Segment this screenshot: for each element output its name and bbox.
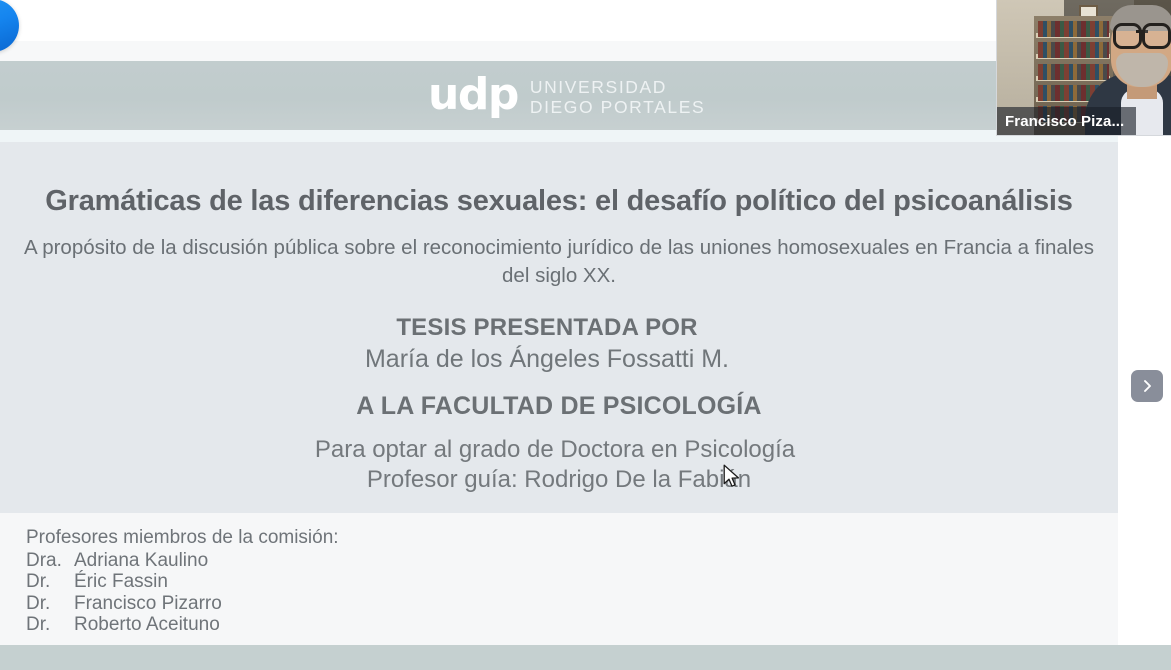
committee-list: Dra.Adriana KaulinoDr.Éric FassinDr.Fran… [26, 550, 339, 636]
udp-logo-line1: UNIVERSIDAD [530, 77, 705, 97]
slide-header-band: udp UNIVERSIDAD DIEGO PORTALES [0, 61, 1118, 130]
header-underband [0, 130, 1118, 142]
committee-member-row: Dra.Adriana Kaulino [26, 550, 339, 572]
participant-name-badge: Francisco Piza... [997, 107, 1136, 135]
glasses-icon [1113, 23, 1171, 43]
committee-member-row: Dr.Roberto Aceituno [26, 614, 339, 636]
chevron-right-icon [1139, 378, 1155, 394]
faculty-label: A LA FACULTAD DE PSICOLOGÍA [0, 392, 1118, 421]
presented-by-label: TESIS PRESENTADA POR [0, 314, 1094, 342]
committee-member-title: Dr. [26, 571, 74, 593]
participant-name-label: Francisco Piza... [1005, 113, 1124, 130]
committee-member-name: Roberto Aceituno [74, 614, 220, 636]
udp-logo-line2: DIEGO PORTALES [530, 97, 705, 117]
committee-block: Profesores miembros de la comisión: Dra.… [26, 527, 339, 636]
udp-logo-text: UNIVERSIDAD DIEGO PORTALES [530, 74, 705, 117]
slide-title: Gramáticas de las diferencias sexuales: … [0, 185, 1118, 218]
committee-member-row: Dr.Francisco Pizarro [26, 593, 339, 615]
udp-logo: udp UNIVERSIDAD DIEGO PORTALES [428, 72, 705, 118]
committee-member-name: Adriana Kaulino [74, 550, 208, 572]
committee-heading: Profesores miembros de la comisión: [26, 527, 339, 549]
degree-line: Para optar al grado de Doctora en Psicol… [0, 436, 1110, 464]
bottom-bar [0, 645, 1171, 670]
committee-member-name: Éric Fassin [74, 571, 168, 593]
committee-member-title: Dr. [26, 593, 74, 615]
committee-member-row: Dr.Éric Fassin [26, 571, 339, 593]
author-name: María de los Ángeles Fossatti M. [0, 345, 1094, 374]
committee-member-title: Dr. [26, 614, 74, 636]
next-panel-button[interactable] [1131, 370, 1163, 402]
committee-member-title: Dra. [26, 550, 74, 572]
participant-video-tile[interactable]: Francisco Piza... [996, 0, 1171, 136]
slide-subtitle: A propósito de la discusión pública sobr… [18, 234, 1100, 290]
committee-member-name: Francisco Pizarro [74, 593, 222, 615]
screen-share-view: udp UNIVERSIDAD DIEGO PORTALES Gramática… [0, 0, 1171, 670]
udp-logo-mark: udp [428, 72, 518, 118]
advisor-line: Profesor guía: Rodrigo De la Fabián [0, 466, 1118, 494]
